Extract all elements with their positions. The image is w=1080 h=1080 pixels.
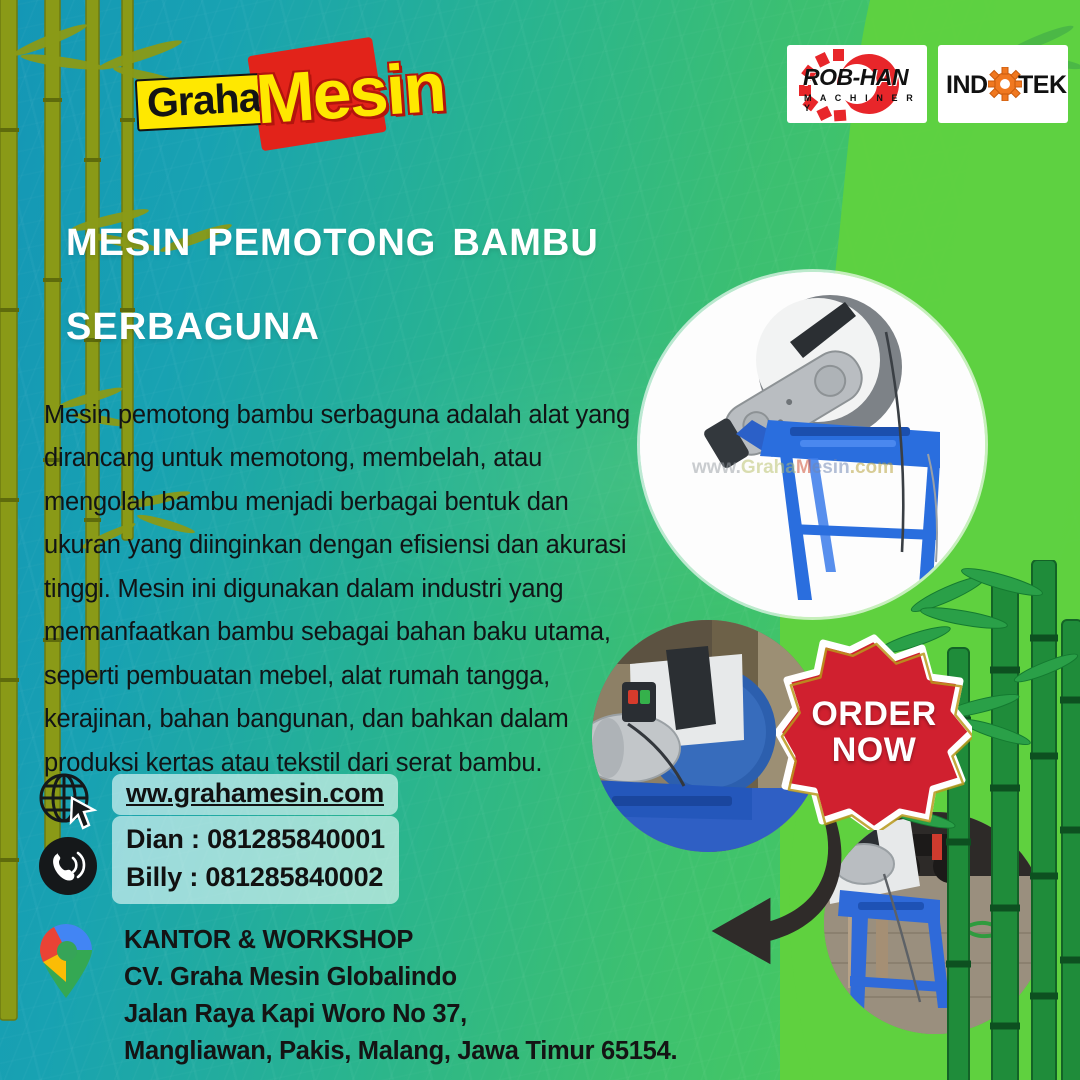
google-maps-pin-icon[interactable] [36, 922, 96, 998]
photo-watermark: www.GrahaMesin.com [692, 457, 894, 479]
globe-cursor-icon[interactable] [36, 770, 98, 832]
product-description: Mesin pemotong bambu serbaguna adalah al… [44, 394, 644, 786]
partner-logo-robhan[interactable]: ROB-HAN M A C H I N E R Y [787, 45, 927, 123]
partner-logo-robhan-subtitle: M A C H I N E R Y [804, 93, 927, 113]
headline-line-1: Mesin Pemotong Bambu [66, 196, 746, 280]
brand-logo[interactable]: Graha Mesin [136, 44, 446, 144]
headline-line-2: Serbaguna [66, 280, 746, 364]
order-now-badge[interactable]: ORDER NOW [776, 634, 972, 830]
address-line-3: Mangliawan, Pakis, Malang, Jawa Timur 65… [124, 1033, 677, 1070]
order-badge-line-2: NOW [832, 732, 917, 768]
partner-logo-indotek-title-right: TEK [1018, 71, 1067, 100]
phone-numbers-box[interactable]: Dian : 081285840001 Billy : 081285840002 [112, 816, 399, 904]
contact-line-billy: Billy : 081285840002 [126, 858, 385, 896]
page-title: Mesin Pemotong Bambu Serbaguna [66, 196, 746, 363]
order-badge-line-1: ORDER [811, 696, 936, 732]
website-url-text: ww.grahamesin.com [126, 778, 384, 809]
address-line-2: Jalan Raya Kapi Woro No 37, [124, 996, 677, 1033]
logo-text-graha: Graha [135, 72, 273, 131]
address-block: KANTOR & WORKSHOP CV. Graha Mesin Global… [124, 922, 677, 1070]
logo-text-mesin: Mesin [254, 52, 447, 135]
contact-line-dian: Dian : 081285840001 [126, 820, 385, 858]
gear-icon [988, 67, 1022, 101]
poster-canvas: www.GrahaMesin.com [0, 0, 1080, 1080]
address-title: KANTOR & WORKSHOP [124, 922, 677, 959]
partner-logo-indotek-title-left: IND [946, 71, 988, 100]
partner-logo-indotek[interactable]: IND TEK [938, 45, 1068, 123]
address-line-1: CV. Graha Mesin Globalindo [124, 959, 677, 996]
website-link[interactable]: ww.grahamesin.com [112, 774, 398, 815]
phone-call-icon[interactable] [38, 836, 98, 896]
partner-logo-robhan-title: ROB-HAN [803, 64, 908, 91]
